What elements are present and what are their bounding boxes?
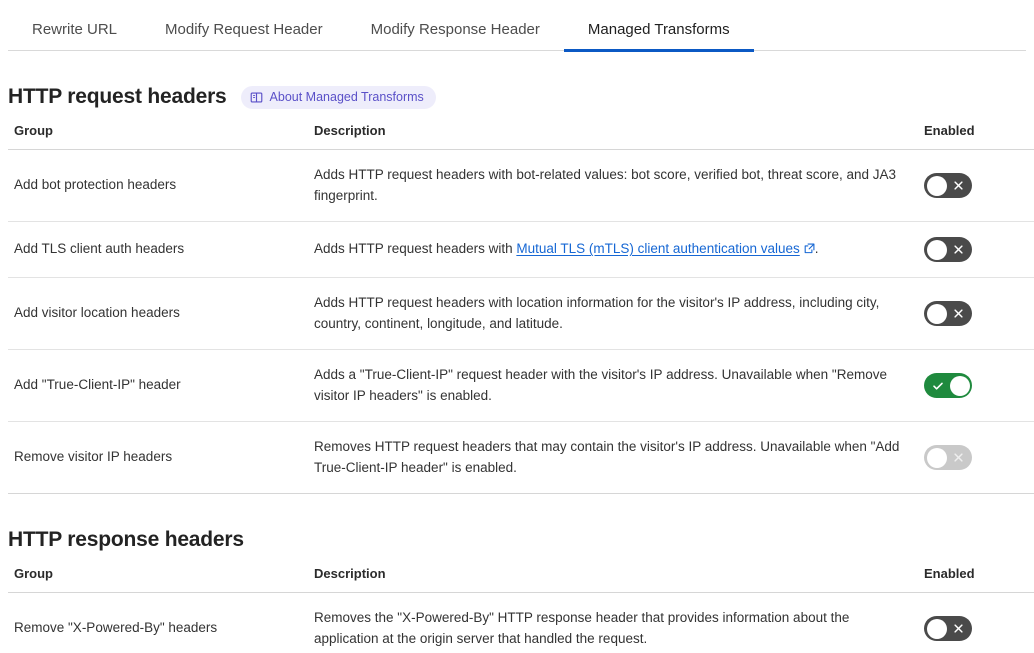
table-row: Add TLS client auth headers Adds HTTP re… bbox=[8, 222, 1034, 278]
close-icon bbox=[952, 616, 964, 641]
toggle-knob bbox=[950, 376, 970, 396]
column-header-group: Group bbox=[8, 566, 314, 593]
mtls-documentation-link[interactable]: Mutual TLS (mTLS) client authentication … bbox=[516, 241, 799, 256]
column-header-description: Description bbox=[314, 566, 924, 593]
column-header-group: Group bbox=[8, 123, 314, 150]
toggle-knob bbox=[927, 619, 947, 639]
row-description: Removes HTTP request headers that may co… bbox=[314, 422, 924, 494]
row-enabled-cell bbox=[924, 422, 1034, 494]
about-managed-transforms-badge[interactable]: About Managed Transforms bbox=[241, 86, 436, 109]
row-group-name: Add TLS client auth headers bbox=[8, 222, 314, 278]
toggle-remove-visitor-ip-headers bbox=[924, 445, 972, 470]
column-header-enabled: Enabled bbox=[924, 566, 1034, 593]
table-row: Add "True-Client-IP" header Adds a "True… bbox=[8, 350, 1034, 422]
column-header-enabled: Enabled bbox=[924, 123, 1034, 150]
row-group-name: Add bot protection headers bbox=[8, 150, 314, 222]
link-label: Mutual TLS (mTLS) client authentication … bbox=[516, 241, 799, 256]
tab-rewrite-url[interactable]: Rewrite URL bbox=[8, 22, 141, 51]
close-icon bbox=[952, 445, 964, 470]
toggle-knob bbox=[927, 448, 947, 468]
table-header-row: Group Description Enabled bbox=[8, 566, 1034, 593]
row-enabled-cell bbox=[924, 150, 1034, 222]
close-icon bbox=[952, 173, 964, 198]
toggle-add-true-client-ip-header[interactable] bbox=[924, 373, 972, 398]
request-headers-table: Group Description Enabled Add bot protec… bbox=[8, 123, 1034, 494]
table-row: Add visitor location headers Adds HTTP r… bbox=[8, 278, 1034, 350]
toggle-knob bbox=[927, 240, 947, 260]
toggle-add-bot-protection-headers[interactable] bbox=[924, 173, 972, 198]
table-header-row: Group Description Enabled bbox=[8, 123, 1034, 150]
table-row: Add bot protection headers Adds HTTP req… bbox=[8, 150, 1034, 222]
row-description: Adds HTTP request headers with bot-relat… bbox=[314, 150, 924, 222]
description-suffix: . bbox=[815, 241, 819, 256]
row-description: Adds HTTP request headers with Mutual TL… bbox=[314, 222, 924, 278]
http-response-headers-section: HTTP response headers Group Description … bbox=[0, 494, 1034, 653]
tab-bar: Rewrite URL Modify Request Header Modify… bbox=[0, 0, 1034, 51]
row-description: Removes the "X-Powered-By" HTTP response… bbox=[314, 593, 924, 653]
row-group-name: Remove visitor IP headers bbox=[8, 422, 314, 494]
request-section-header: HTTP request headers About Managed Trans… bbox=[8, 51, 1026, 123]
row-group-name: Remove "X-Powered-By" headers bbox=[8, 593, 314, 653]
row-group-name: Add visitor location headers bbox=[8, 278, 314, 350]
response-section-title: HTTP response headers bbox=[8, 528, 244, 552]
external-link-icon[interactable] bbox=[804, 240, 815, 251]
row-description: Adds a "True-Client-IP" request header w… bbox=[314, 350, 924, 422]
toggle-add-visitor-location-headers[interactable] bbox=[924, 301, 972, 326]
column-header-description: Description bbox=[314, 123, 924, 150]
tab-modify-response-header[interactable]: Modify Response Header bbox=[347, 22, 564, 51]
tab-managed-transforms[interactable]: Managed Transforms bbox=[564, 22, 754, 51]
row-enabled-cell bbox=[924, 593, 1034, 653]
table-row: Remove "X-Powered-By" headers Removes th… bbox=[8, 593, 1034, 653]
close-icon bbox=[952, 301, 964, 326]
toggle-knob bbox=[927, 176, 947, 196]
row-enabled-cell bbox=[924, 278, 1034, 350]
row-enabled-cell bbox=[924, 222, 1034, 278]
row-enabled-cell bbox=[924, 350, 1034, 422]
row-description: Adds HTTP request headers with location … bbox=[314, 278, 924, 350]
response-section-header: HTTP response headers bbox=[8, 494, 1026, 566]
toggle-remove-x-powered-by-headers[interactable] bbox=[924, 616, 972, 641]
response-headers-table: Group Description Enabled Remove "X-Powe… bbox=[8, 566, 1034, 653]
http-request-headers-section: HTTP request headers About Managed Trans… bbox=[0, 51, 1034, 494]
about-managed-transforms-label: About Managed Transforms bbox=[270, 90, 424, 105]
table-row: Remove visitor IP headers Removes HTTP r… bbox=[8, 422, 1034, 494]
close-icon bbox=[952, 237, 964, 262]
row-group-name: Add "True-Client-IP" header bbox=[8, 350, 314, 422]
book-icon bbox=[250, 91, 263, 104]
tab-modify-request-header[interactable]: Modify Request Header bbox=[141, 22, 347, 51]
check-icon bbox=[932, 373, 944, 398]
description-prefix: Adds HTTP request headers with bbox=[314, 241, 516, 256]
request-section-title: HTTP request headers bbox=[8, 85, 227, 109]
toggle-add-tls-client-auth-headers[interactable] bbox=[924, 237, 972, 262]
toggle-knob bbox=[927, 304, 947, 324]
